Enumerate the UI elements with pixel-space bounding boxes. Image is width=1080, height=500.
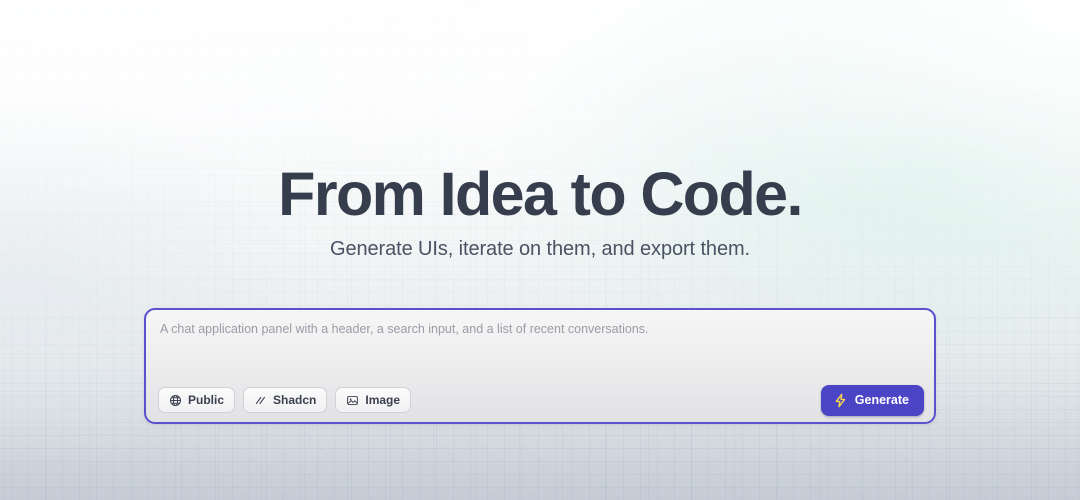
generate-button-label: Generate: [855, 393, 909, 407]
attach-image-label: Image: [365, 393, 400, 407]
prompt-options-row: Public Shadcn: [158, 387, 411, 413]
attach-image-button[interactable]: Image: [335, 387, 411, 413]
prompt-panel: Public Shadcn: [144, 308, 936, 424]
prompt-toolbar: Public Shadcn: [146, 378, 934, 422]
globe-icon: [169, 394, 182, 407]
landing-page: From Idea to Code. Generate UIs, iterate…: [0, 0, 1080, 500]
generate-button[interactable]: Generate: [821, 385, 924, 416]
framework-shadcn-label: Shadcn: [273, 393, 316, 407]
framework-shadcn-button[interactable]: Shadcn: [243, 387, 327, 413]
slashes-icon: [254, 394, 267, 407]
visibility-public-label: Public: [188, 393, 224, 407]
lightning-bolt-icon: [833, 393, 848, 408]
visibility-public-button[interactable]: Public: [158, 387, 235, 413]
prompt-input[interactable]: [146, 310, 934, 378]
page-title: From Idea to Code.: [278, 163, 802, 226]
image-icon: [346, 394, 359, 407]
page-subtitle: Generate UIs, iterate on them, and expor…: [330, 238, 750, 261]
